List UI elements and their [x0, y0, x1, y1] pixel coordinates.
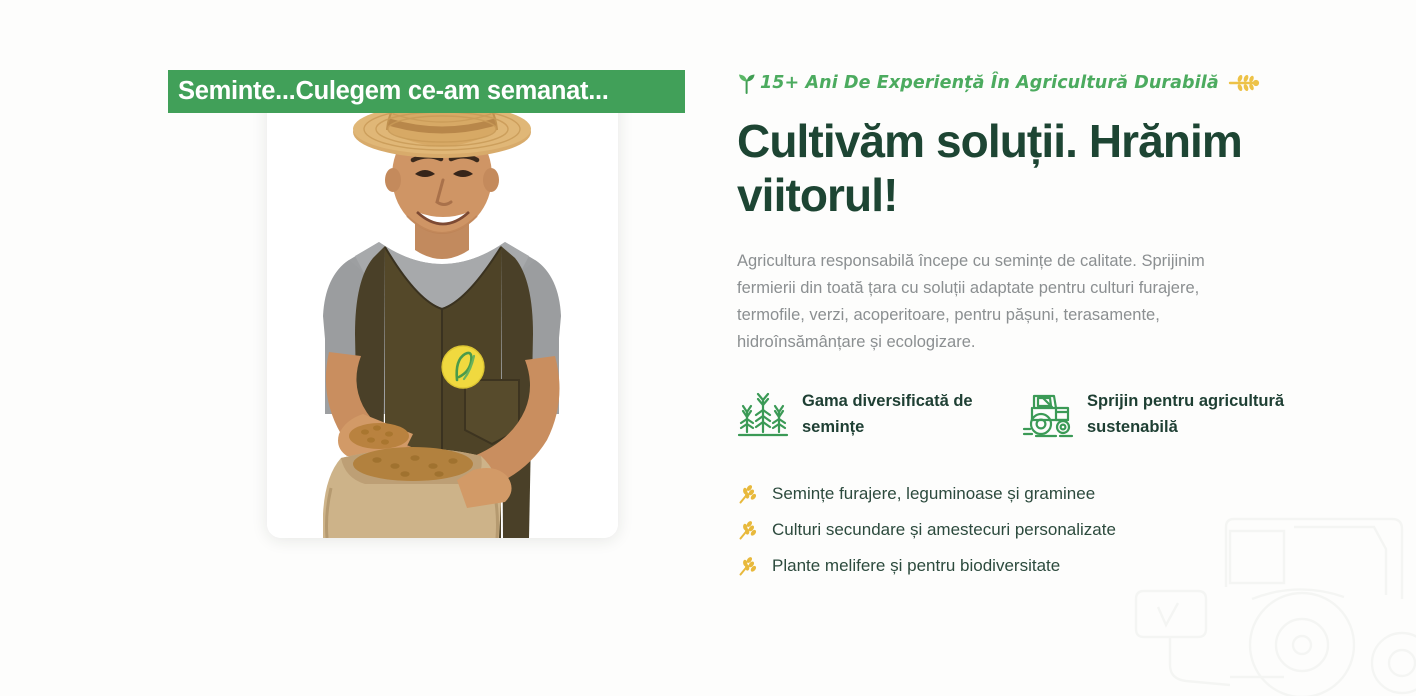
hero-bullet-list: Semințe furajere, leguminoase și gramine…: [737, 476, 1337, 584]
sprout-icon: [737, 72, 757, 94]
hero-eyebrow: 15+ Ani De Experiență În Agricultură Dur…: [737, 68, 1337, 98]
wheat-ear-icon: [737, 520, 758, 541]
list-item-label: Culturi secundare și amestecuri personal…: [772, 520, 1116, 540]
hero-headline: Cultivăm soluții. Hrănim viitorul!: [737, 114, 1277, 222]
feature-seed-variety: Gama diversificată de semințe: [737, 388, 1022, 440]
list-item-label: Semințe furajere, leguminoase și gramine…: [772, 484, 1095, 504]
farmer-photo-card: [267, 84, 618, 538]
list-item: Culturi secundare și amestecuri personal…: [737, 512, 1337, 548]
hero-eyebrow-text: 15+ Ani De Experiență În Agricultură Dur…: [760, 73, 1219, 93]
right-column: 15+ Ani De Experiență În Agricultură Dur…: [737, 68, 1337, 584]
feature-sustainable-support: Sprijin pentru agricultură sustenabilă: [1022, 388, 1287, 440]
list-item: Plante melifere și pentru biodiversitate: [737, 548, 1337, 584]
wheat-sprig-icon: [1228, 74, 1260, 92]
farmer-photo: [267, 84, 618, 538]
list-item: Semințe furajere, leguminoase și gramine…: [737, 476, 1337, 512]
hero-page: Seminte...Culegem ce-am semanat... 15+ A…: [0, 0, 1416, 696]
feature-sustainable-support-label: Sprijin pentru agricultură sustenabilă: [1087, 388, 1287, 440]
promo-banner: Seminte...Culegem ce-am semanat...: [168, 70, 685, 113]
hero-paragraph: Agricultura responsabilă începe cu semin…: [737, 248, 1242, 356]
wheat-ear-icon: [737, 484, 758, 505]
wheat-crops-icon: [737, 388, 789, 440]
feature-seed-variety-label: Gama diversificată de semințe: [802, 388, 1002, 440]
promo-banner-text: Seminte...Culegem ce-am semanat...: [178, 77, 609, 106]
wheat-ear-icon: [737, 556, 758, 577]
tractor-icon: [1022, 388, 1074, 440]
list-item-label: Plante melifere și pentru biodiversitate: [772, 556, 1060, 576]
hero-features: Gama diversificată de semințe: [737, 388, 1337, 440]
